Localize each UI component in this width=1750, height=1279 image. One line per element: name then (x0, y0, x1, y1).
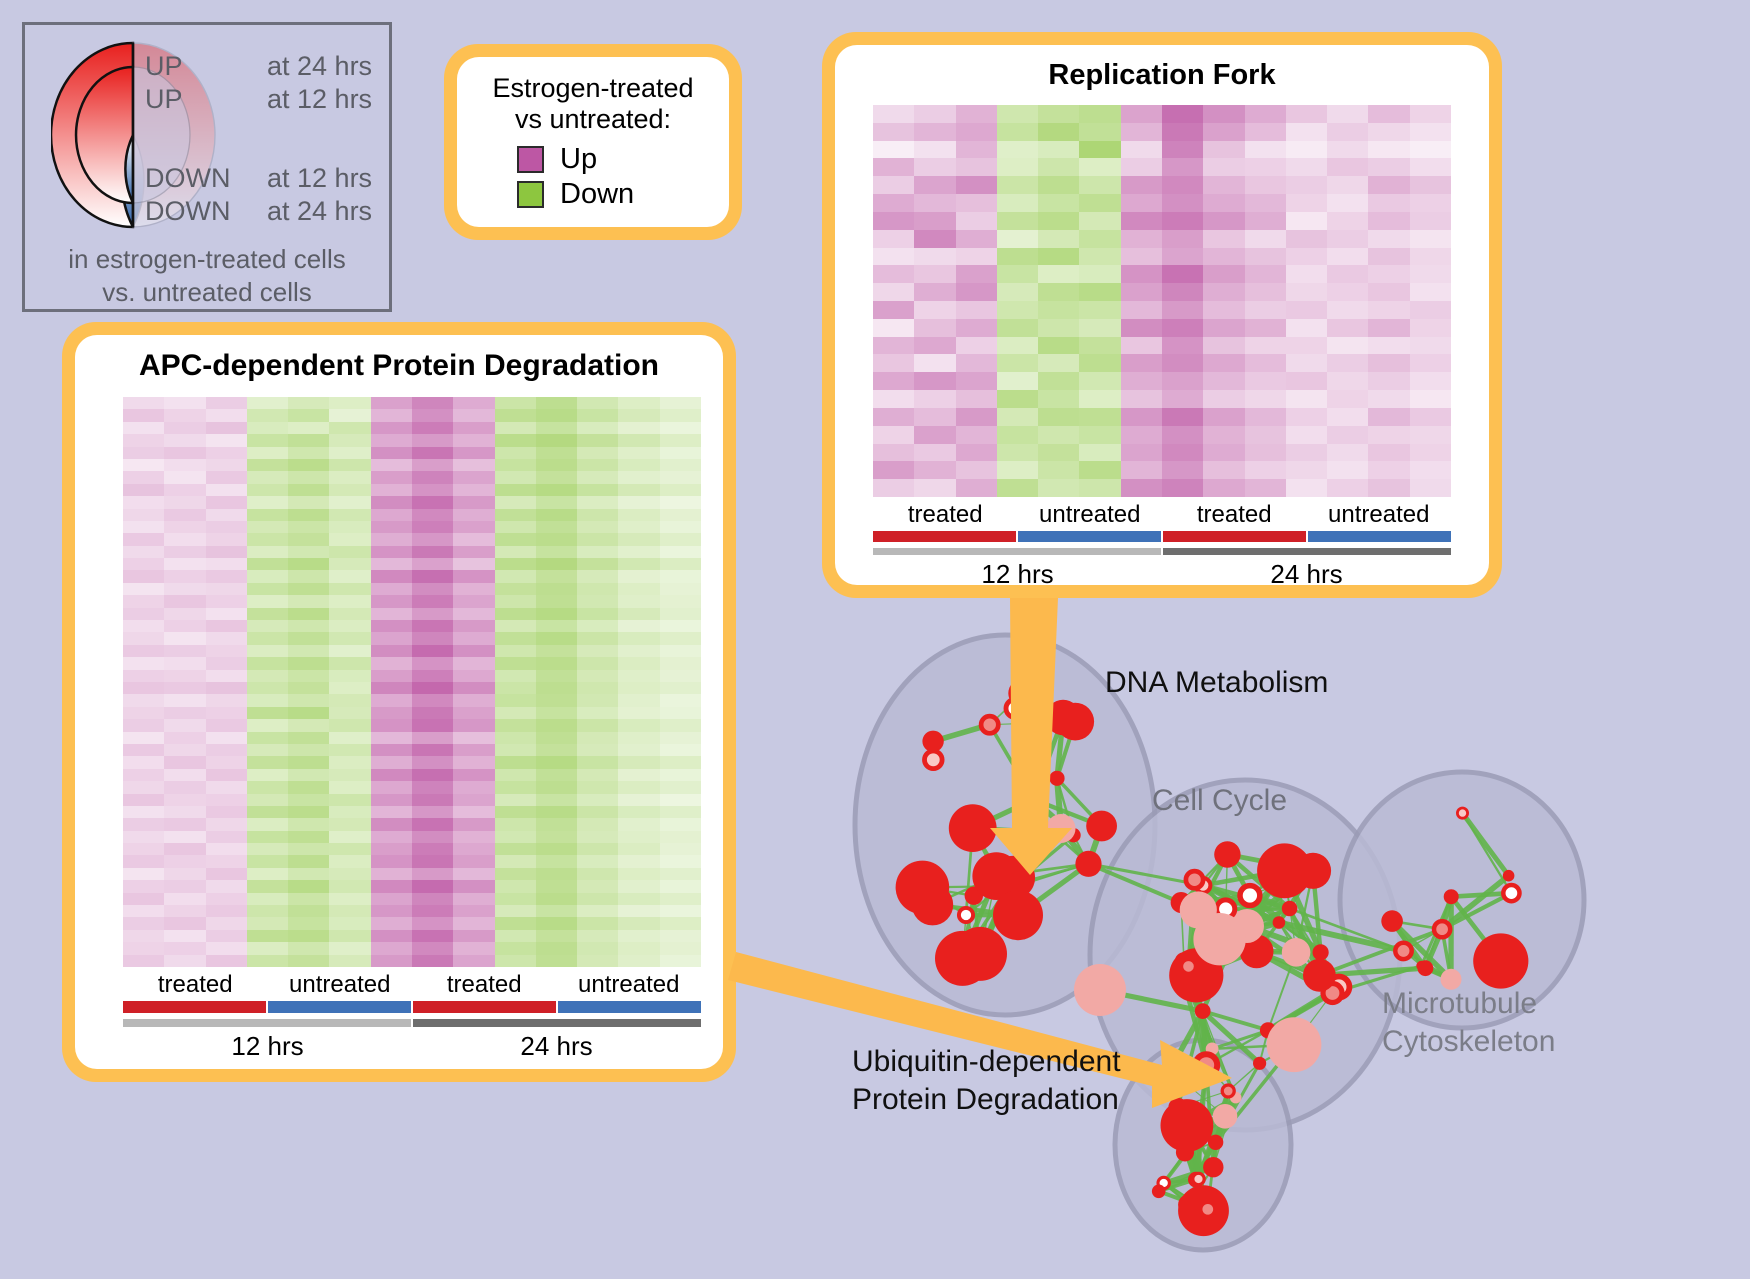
heatmap-cell (536, 583, 577, 595)
heatmap-cell (164, 818, 205, 830)
heatmap-cell (1368, 176, 1409, 194)
heatmap-cell (577, 484, 618, 496)
heatmap-cell (371, 471, 412, 483)
heatmap-cell (1327, 461, 1368, 479)
heatmap-cell (618, 570, 659, 582)
heatmap-cell (495, 657, 536, 669)
heatmap-cell (660, 843, 701, 855)
heatmap-cell (288, 484, 329, 496)
heatmap-cell (453, 930, 494, 942)
heatmap-cell (329, 645, 370, 657)
heatmap-cell (1368, 426, 1409, 444)
time-label: 12 hrs (123, 1031, 412, 1062)
heatmap-cell (618, 732, 659, 744)
heatmap-cell (247, 645, 288, 657)
heatmap-cell (873, 337, 914, 355)
heatmap-cell (329, 905, 370, 917)
heatmap-cell (914, 390, 955, 408)
heatmap-cell (164, 942, 205, 954)
heatmap-cell (206, 781, 247, 793)
heatmap-cell (618, 930, 659, 942)
heatmap-cell (164, 533, 205, 545)
heatmap-cell (123, 744, 164, 756)
replication-fork-group-labels: treateduntreatedtreateduntreated (873, 501, 1451, 529)
heatmap-cell (206, 831, 247, 843)
heatmap-cell (1038, 354, 1079, 372)
heatmap-cell (577, 570, 618, 582)
heatmap-cell (1368, 337, 1409, 355)
heatmap-cell (206, 682, 247, 694)
heatmap-cell (329, 409, 370, 421)
key-direction: DOWN (145, 198, 267, 225)
heatmap-cell (412, 843, 453, 855)
cluster-label-dna-metabolism: DNA Metabolism (1105, 666, 1328, 700)
heatmap-cell (123, 682, 164, 694)
heatmap-cell (536, 794, 577, 806)
heatmap-cell (288, 732, 329, 744)
heatmap-cell (412, 707, 453, 719)
heatmap-cell (123, 955, 164, 967)
heatmap-cell (618, 620, 659, 632)
heatmap-cell (495, 620, 536, 632)
heatmap-cell (206, 719, 247, 731)
network-node (1008, 678, 1038, 708)
heatmap-cell (577, 608, 618, 620)
heatmap-cell (914, 301, 955, 319)
heatmap-cell (453, 447, 494, 459)
heatmap-cell (1245, 354, 1286, 372)
heatmap-cell (618, 917, 659, 929)
heatmap-cell (914, 337, 955, 355)
heatmap-cell (412, 620, 453, 632)
heatmap-cell (453, 409, 494, 421)
heatmap-cell (1121, 248, 1162, 266)
network-node (1418, 960, 1434, 976)
heatmap-cell (1245, 444, 1286, 462)
heatmap-cell (873, 248, 914, 266)
heatmap-cell (577, 533, 618, 545)
heatmap-cell (329, 855, 370, 867)
heatmap-cell (660, 570, 701, 582)
heatmap-cell (577, 509, 618, 521)
heatmap-cell (1203, 176, 1244, 194)
heatmap-cell (660, 781, 701, 793)
heatmap-cell (1121, 141, 1162, 159)
heatmap-cell (164, 570, 205, 582)
heatmap-cell (495, 818, 536, 830)
heatmap-cell (1410, 426, 1451, 444)
heatmap-cell (914, 372, 955, 390)
network-node (1152, 1185, 1166, 1199)
heatmap-cell (371, 818, 412, 830)
heatmap-cell (1162, 230, 1203, 248)
heatmap-cell (1162, 390, 1203, 408)
network-node (1181, 959, 1196, 974)
heatmap-cell (164, 484, 205, 496)
heatmap-cell (206, 521, 247, 533)
heatmap-cell (288, 917, 329, 929)
up-swatch-icon (517, 146, 544, 173)
heatmap-cell (247, 917, 288, 929)
heatmap-cell (577, 930, 618, 942)
heatmap-cell (1162, 479, 1203, 497)
network-node (1193, 913, 1245, 965)
heatmap-cell (288, 546, 329, 558)
heatmap-cell (1410, 176, 1451, 194)
heatmap-cell (1162, 372, 1203, 390)
heatmap-cell (1327, 354, 1368, 372)
network-node (1273, 916, 1286, 929)
heatmap-cell (536, 397, 577, 409)
heatmap-cell (164, 868, 205, 880)
heatmap-cell (997, 390, 1038, 408)
heatmap-cell (329, 397, 370, 409)
replication-fork-title: Replication Fork (835, 45, 1489, 92)
heatmap-cell (288, 583, 329, 595)
heatmap-cell (618, 806, 659, 818)
heatmap-cell (495, 855, 536, 867)
heatmap-cell (412, 521, 453, 533)
heatmap-cell (123, 471, 164, 483)
heatmap-cell (956, 301, 997, 319)
heatmap-cell (329, 521, 370, 533)
heatmap-cell (247, 608, 288, 620)
heatmap-cell (1203, 426, 1244, 444)
heatmap-cell (495, 917, 536, 929)
heatmap-cell (577, 843, 618, 855)
heatmap-cell (123, 880, 164, 892)
heatmap-cell (1368, 444, 1409, 462)
heatmap-cell (247, 484, 288, 496)
heatmap-cell (371, 756, 412, 768)
heatmap-cell (997, 141, 1038, 159)
heatmap-cell (660, 756, 701, 768)
heatmap-cell (660, 682, 701, 694)
heatmap-cell (371, 905, 412, 917)
heatmap-cell (536, 756, 577, 768)
apc-treatment-bars (123, 1001, 701, 1013)
heatmap-cell (329, 509, 370, 521)
heatmap-cell (123, 459, 164, 471)
heatmap-cell (660, 521, 701, 533)
heatmap-cell (164, 855, 205, 867)
heatmap-cell (873, 158, 914, 176)
heatmap-cell (453, 620, 494, 632)
heatmap-cell (453, 756, 494, 768)
heatmap-cell (164, 905, 205, 917)
heatmap-cell (371, 682, 412, 694)
heatmap-cell (371, 632, 412, 644)
heatmap-cell (123, 546, 164, 558)
heatmap-cell (1038, 248, 1079, 266)
heatmap-cell (1327, 444, 1368, 462)
heatmap-cell (536, 620, 577, 632)
heatmap-cell (247, 422, 288, 434)
heatmap-cell (660, 694, 701, 706)
heatmap-cell (1121, 479, 1162, 497)
heatmap-cell (123, 905, 164, 917)
expression-key-rows: UP at 24 hrs UP at 12 hrs DOWN at 12 hrs… (145, 53, 395, 225)
heatmap-cell (206, 484, 247, 496)
heatmap-cell (412, 632, 453, 644)
heatmap-cell (1286, 461, 1327, 479)
heatmap-cell (288, 942, 329, 954)
heatmap-cell (412, 893, 453, 905)
network-node (1253, 1057, 1266, 1070)
group-label: untreated (1307, 501, 1452, 529)
heatmap-cell (1162, 194, 1203, 212)
heatmap-cell (1286, 444, 1327, 462)
heatmap-cell (164, 707, 205, 719)
network-node (1160, 1060, 1180, 1080)
apc-degradation-heatmap (123, 397, 701, 967)
network-node (1186, 871, 1203, 888)
key-time: at 12 hrs (267, 165, 372, 192)
heatmap-cell (206, 620, 247, 632)
legend-label-up: Up (560, 143, 597, 176)
heatmap-cell (618, 794, 659, 806)
heatmap-cell (1121, 301, 1162, 319)
heatmap-cell (1327, 265, 1368, 283)
heatmap-cell (288, 558, 329, 570)
heatmap-cell (577, 806, 618, 818)
heatmap-cell (288, 509, 329, 521)
heatmap-cell (1079, 176, 1120, 194)
heatmap-cell (914, 212, 955, 230)
key-row: DOWN at 24 hrs (145, 198, 395, 225)
heatmap-cell (164, 608, 205, 620)
network-node (993, 890, 1043, 940)
heatmap-cell (1410, 337, 1451, 355)
heatmap-cell (873, 141, 914, 159)
heatmap-cell (536, 533, 577, 545)
heatmap-cell (329, 769, 370, 781)
heatmap-cell (914, 141, 955, 159)
key-row: UP at 24 hrs (145, 53, 395, 80)
heatmap-cell (288, 905, 329, 917)
heatmap-cell (247, 732, 288, 744)
legend-title: Estrogen-treated vs untreated: (475, 73, 711, 135)
heatmap-cell (206, 744, 247, 756)
heatmap-cell (288, 422, 329, 434)
heatmap-cell (412, 397, 453, 409)
network-node (949, 804, 997, 852)
heatmap-cell (1327, 212, 1368, 230)
heatmap-cell (1038, 408, 1079, 426)
heatmap-cell (206, 893, 247, 905)
heatmap-cell (453, 831, 494, 843)
heatmap-cell (164, 496, 205, 508)
heatmap-cell (956, 158, 997, 176)
heatmap-cell (329, 707, 370, 719)
heatmap-cell (164, 447, 205, 459)
heatmap-cell (247, 818, 288, 830)
heatmap-cell (247, 583, 288, 595)
heatmap-cell (371, 447, 412, 459)
heatmap-cell (1245, 390, 1286, 408)
heatmap-cell (247, 806, 288, 818)
heatmap-cell (164, 732, 205, 744)
heatmap-cell (1121, 194, 1162, 212)
heatmap-cell (371, 434, 412, 446)
heatmap-cell (1410, 230, 1451, 248)
heatmap-cell (914, 265, 955, 283)
heatmap-cell (164, 397, 205, 409)
heatmap-cell (997, 337, 1038, 355)
heatmap-cell (1079, 194, 1120, 212)
heatmap-cell (1410, 319, 1451, 337)
heatmap-cell (1368, 461, 1409, 479)
heatmap-cell (577, 397, 618, 409)
heatmap-cell (1121, 283, 1162, 301)
heatmap-cell (914, 354, 955, 372)
heatmap-cell (1286, 479, 1327, 497)
heatmap-cell (371, 893, 412, 905)
network-node (1434, 921, 1450, 937)
heatmap-cell (495, 781, 536, 793)
heatmap-cell (495, 769, 536, 781)
heatmap-cell (536, 955, 577, 967)
heatmap-cell (371, 422, 412, 434)
heatmap-cell (1203, 105, 1244, 123)
heatmap-cell (288, 843, 329, 855)
heatmap-cell (1121, 444, 1162, 462)
heatmap-cell (123, 632, 164, 644)
heatmap-cell (1327, 283, 1368, 301)
heatmap-cell (329, 942, 370, 954)
heatmap-cell (997, 426, 1038, 444)
heatmap-cell (247, 447, 288, 459)
heatmap-cell (495, 806, 536, 818)
heatmap-cell (412, 471, 453, 483)
heatmap-cell (1038, 123, 1079, 141)
heatmap-cell (288, 831, 329, 843)
network-node (1222, 1085, 1234, 1097)
heatmap-cell (495, 843, 536, 855)
heatmap-cell (1203, 301, 1244, 319)
heatmap-cell (164, 620, 205, 632)
heatmap-cell (1162, 141, 1203, 159)
heatmap-cell (1203, 194, 1244, 212)
heatmap-cell (288, 818, 329, 830)
heatmap-cell (1038, 461, 1079, 479)
network-node (1213, 1104, 1238, 1129)
heatmap-cell (577, 471, 618, 483)
heatmap-cell (495, 942, 536, 954)
heatmap-cell (247, 471, 288, 483)
heatmap-cell (660, 397, 701, 409)
heatmap-cell (453, 880, 494, 892)
heatmap-cell (288, 459, 329, 471)
time-bar (413, 1019, 701, 1027)
heatmap-cell (453, 893, 494, 905)
heatmap-cell (164, 657, 205, 669)
heatmap-cell (1410, 354, 1451, 372)
heatmap-cell (997, 176, 1038, 194)
heatmap-cell (577, 546, 618, 558)
heatmap-cell (536, 893, 577, 905)
heatmap-cell (371, 645, 412, 657)
heatmap-cell (577, 422, 618, 434)
heatmap-cell (164, 794, 205, 806)
heatmap-cell (577, 620, 618, 632)
heatmap-cell (1079, 426, 1120, 444)
heatmap-cell (618, 471, 659, 483)
heatmap-cell (1368, 230, 1409, 248)
heatmap-cell (660, 657, 701, 669)
heatmap-cell (371, 707, 412, 719)
heatmap-cell (123, 930, 164, 942)
heatmap-cell (247, 707, 288, 719)
cluster-label-line1: Microtubule (1382, 985, 1555, 1023)
heatmap-cell (618, 583, 659, 595)
heatmap-cell (577, 583, 618, 595)
heatmap-cell (288, 521, 329, 533)
heatmap-cell (618, 781, 659, 793)
heatmap-cell (873, 426, 914, 444)
heatmap-cell (206, 447, 247, 459)
heatmap-cell (660, 558, 701, 570)
legend-box: Estrogen-treated vs untreated: Up Down (444, 44, 742, 240)
heatmap-cell (536, 905, 577, 917)
heatmap-cell (123, 533, 164, 545)
heatmap-cell (1203, 461, 1244, 479)
heatmap-cell (914, 319, 955, 337)
heatmap-cell (1410, 141, 1451, 159)
heatmap-cell (536, 694, 577, 706)
heatmap-cell (956, 265, 997, 283)
heatmap-cell (997, 123, 1038, 141)
group-label: treated (123, 971, 268, 999)
heatmap-cell (1121, 372, 1162, 390)
heatmap-cell (288, 632, 329, 644)
heatmap-cell (660, 546, 701, 558)
heatmap-cell (1121, 354, 1162, 372)
heatmap-cell (206, 818, 247, 830)
heatmap-cell (453, 521, 494, 533)
heatmap-cell (1121, 265, 1162, 283)
heatmap-cell (371, 806, 412, 818)
heatmap-cell (660, 855, 701, 867)
heatmap-cell (997, 265, 1038, 283)
heatmap-cell (536, 546, 577, 558)
cluster-label-line1: Ubiquitin-dependent (852, 1043, 1121, 1081)
heatmap-cell (164, 744, 205, 756)
network-node (1381, 910, 1403, 932)
heatmap-cell (536, 806, 577, 818)
replication-fork-time-labels: 12 hrs24 hrs (873, 559, 1451, 590)
heatmap-cell (288, 893, 329, 905)
heatmap-cell (495, 434, 536, 446)
heatmap-cell (956, 337, 997, 355)
heatmap-cell (914, 461, 955, 479)
heatmap-cell (453, 397, 494, 409)
heatmap-cell (536, 917, 577, 929)
heatmap-cell (1162, 408, 1203, 426)
heatmap-cell (1327, 158, 1368, 176)
heatmap-cell (873, 479, 914, 497)
heatmap-cell (453, 509, 494, 521)
heatmap-cell (1121, 158, 1162, 176)
heatmap-cell (495, 533, 536, 545)
heatmap-cell (1410, 408, 1451, 426)
heatmap-cell (206, 769, 247, 781)
heatmap-cell (914, 176, 955, 194)
heatmap-cell (329, 930, 370, 942)
heatmap-cell (1162, 265, 1203, 283)
heatmap-cell (329, 732, 370, 744)
heatmap-cell (536, 781, 577, 793)
